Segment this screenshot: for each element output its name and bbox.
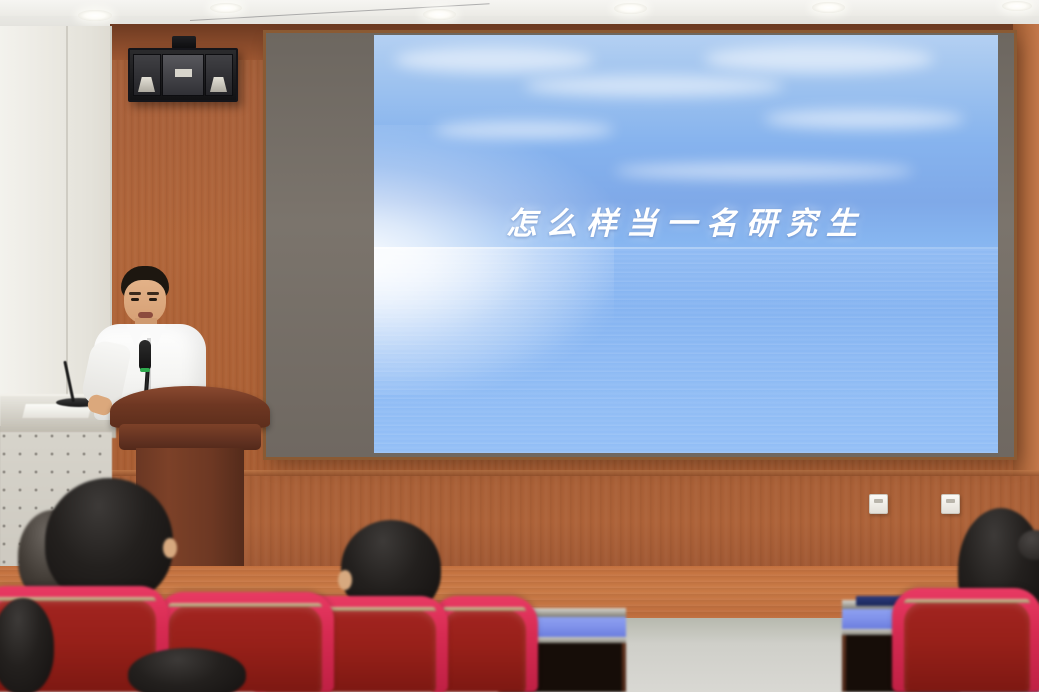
cloud-6 bbox=[614, 163, 914, 179]
sea-reflection-glow bbox=[374, 249, 614, 379]
lectern-apron bbox=[119, 424, 261, 450]
speaker-label-plate bbox=[175, 69, 192, 77]
audience-head-bottom-center bbox=[128, 648, 246, 692]
downlight-6 bbox=[1002, 1, 1032, 11]
downlight-4 bbox=[614, 3, 647, 14]
audience-hair-bottom-center bbox=[128, 648, 246, 692]
cloud-5 bbox=[764, 109, 964, 129]
audience-head-far-left bbox=[0, 598, 54, 692]
presentation-slide[interactable]: 怎么样当一名研究生 bbox=[374, 35, 998, 453]
ceiling-soffit bbox=[0, 0, 1039, 16]
microphone-power-indicator bbox=[140, 368, 150, 372]
presenter-eye-right bbox=[149, 298, 157, 301]
speaker-horn-right bbox=[210, 77, 227, 92]
seat-right-cushion bbox=[904, 602, 1030, 692]
wall-mounted-speaker-array bbox=[128, 48, 238, 102]
cloud-1 bbox=[394, 47, 594, 73]
wall-socket-left[interactable] bbox=[869, 494, 888, 514]
audience-ear-front-left bbox=[163, 538, 177, 558]
downlight-1 bbox=[78, 10, 112, 21]
presenter-eye-left bbox=[131, 298, 139, 301]
projection-screen[interactable]: 怎么样当一名研究生 bbox=[266, 33, 1014, 457]
slide-title: 怎么样当一名研究生 bbox=[374, 198, 998, 243]
seat-center-right-cushion bbox=[442, 610, 526, 692]
seat-right[interactable] bbox=[892, 588, 1039, 692]
lecture-hall-photo: 怎么样当一名研究生 bbox=[0, 0, 1039, 692]
speaker-cabinet-right bbox=[205, 54, 233, 96]
cloud-2 bbox=[524, 75, 784, 97]
downlight-3 bbox=[423, 9, 456, 20]
audience-hair-far-left bbox=[0, 598, 54, 692]
podium-microphone bbox=[139, 340, 151, 370]
speaker-horn-left bbox=[138, 77, 155, 92]
presenter-brow-right bbox=[147, 292, 159, 295]
audience-ear-center bbox=[338, 570, 352, 590]
downlight-2 bbox=[210, 3, 242, 13]
speaker-cabinet-center bbox=[162, 54, 204, 96]
speaker-cabinet-left bbox=[133, 54, 161, 96]
cloud-3 bbox=[704, 45, 934, 73]
downlight-5 bbox=[812, 2, 845, 13]
lectern-top bbox=[110, 386, 270, 428]
presenter-brow-left bbox=[129, 292, 141, 295]
